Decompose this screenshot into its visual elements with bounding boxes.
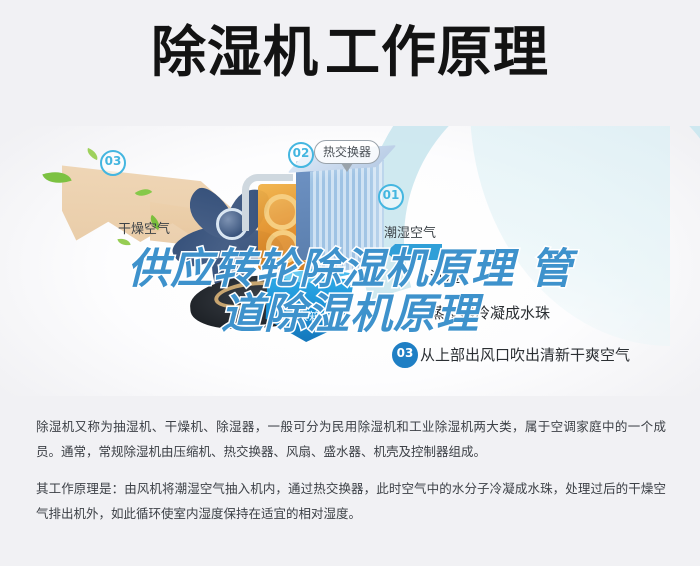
leaf-icon: [85, 148, 100, 160]
callout-badge-03: 03: [392, 342, 418, 368]
title-part-principle: 工作原理: [325, 20, 549, 84]
title-part-dehumidifier: 除湿机: [151, 20, 319, 84]
heat-exchanger-fins-icon: [310, 160, 384, 276]
step-badge-02-heat-exchanger: 02: [288, 142, 314, 168]
step-badge-01-humid: 01: [378, 184, 404, 210]
leaf-icon: [117, 237, 130, 247]
coil-ring-icon: [264, 194, 300, 230]
dehumidifier-diagram: 水箱 03 干燥空气 02 热交换器 01 潮湿空气 潮湿 经过蒸发器冷凝成水珠…: [0, 126, 700, 396]
step-label-heat-exchanger: 热交换器: [314, 140, 380, 164]
description-block: 除湿机又称为抽湿机、干燥机、除湿器，一般可分为民用除湿机和工业除湿机两大类，属于…: [36, 414, 666, 526]
air-inlet-arrow-icon: [386, 244, 442, 260]
paragraph-definition: 除湿机又称为抽湿机、干燥机、除湿器，一般可分为民用除湿机和工业除湿机两大类，属于…: [36, 414, 666, 464]
callout-condense-text: 经过蒸发器冷凝成水珠: [400, 302, 550, 323]
coil-ring-icon: [266, 230, 300, 264]
step-label-dry-air: 干燥空气: [118, 218, 170, 237]
callout-outlet-text: 从上部出风口吹出清新干爽空气: [420, 344, 630, 365]
water-tank-label: 水箱: [296, 308, 322, 325]
callout-partial-humid-text: 潮湿: [430, 266, 460, 287]
poster-root: 除湿机工作原理: [0, 0, 700, 566]
step-badge-03-dry: 03: [100, 150, 126, 176]
step-label-humid-air: 潮湿空气: [384, 222, 436, 241]
page-title: 除湿机工作原理: [0, 24, 700, 82]
paragraph-working-principle: 其工作原理是：由风机将潮湿空气抽入机内，通过热交换器，此时空气中的水分子冷凝成水…: [36, 476, 666, 526]
